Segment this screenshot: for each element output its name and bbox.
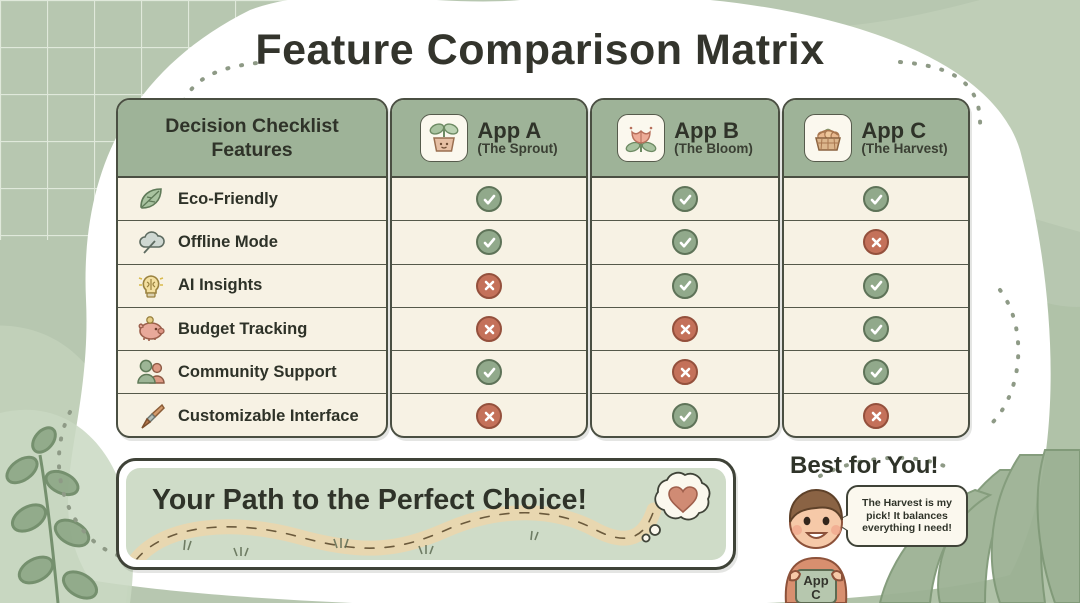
feature-label: Offline Mode <box>178 233 278 252</box>
cross-icon <box>672 316 698 342</box>
feature-row: Eco-Friendly <box>118 178 386 221</box>
feature-row: Budget Tracking <box>118 308 386 351</box>
check-icon <box>476 359 502 385</box>
check-icon <box>672 273 698 299</box>
happy-boy-with-tablet-icon: App C <box>768 478 864 603</box>
app-b-header: App B (The Bloom) <box>592 100 778 178</box>
check-icon <box>672 229 698 255</box>
check-icon <box>476 186 502 212</box>
matrix-cell-b <box>592 394 778 437</box>
matrix-cell-a <box>392 351 586 394</box>
piggy-bank-icon <box>136 315 166 343</box>
matrix-cell-b <box>592 178 778 221</box>
people-group-icon <box>136 358 166 386</box>
cta-banner: Your Path to the Perfect Choice! <box>116 458 736 570</box>
matrix-cell-c <box>784 221 968 264</box>
cloud-offline-icon <box>136 228 166 256</box>
feature-label: Eco-Friendly <box>178 190 278 209</box>
app-b-name: App B <box>674 119 753 142</box>
app-c-subtitle: (The Harvest) <box>861 142 947 157</box>
app-a-name: App A <box>477 119 557 142</box>
cross-icon <box>863 229 889 255</box>
page-title: Feature Comparison Matrix <box>0 26 1080 75</box>
cross-icon <box>476 403 502 429</box>
tulip-flower-icon <box>617 114 665 162</box>
recommendation-quote: The Harvest is my pick! It balances ever… <box>853 497 961 535</box>
feature-label: Customizable Interface <box>178 407 359 426</box>
check-icon <box>863 273 889 299</box>
feature-label: Budget Tracking <box>178 320 307 339</box>
feature-column-header-line1: Decision Checklist <box>165 115 338 138</box>
feature-row: AI Insights <box>118 265 386 308</box>
feature-comparison-matrix: Decision Checklist Features Eco-Friendly… <box>116 98 970 438</box>
feature-row: Community Support <box>118 351 386 394</box>
matrix-cell-c <box>784 265 968 308</box>
app-c-name: App C <box>861 119 947 142</box>
feature-column-header-line2: Features <box>211 139 292 162</box>
recommendation-heading: Best for You! <box>790 452 938 480</box>
matrix-column-app-c: App C (The Harvest) <box>782 98 970 438</box>
matrix-feature-column: Decision Checklist Features Eco-Friendly… <box>116 98 388 438</box>
matrix-cell-a <box>392 265 586 308</box>
matrix-cell-b <box>592 308 778 351</box>
matrix-cell-a <box>392 221 586 264</box>
matrix-cell-a <box>392 394 586 437</box>
app-b-subtitle: (The Bloom) <box>674 142 753 157</box>
cross-icon <box>476 316 502 342</box>
feature-label: Community Support <box>178 363 337 382</box>
cross-icon <box>476 273 502 299</box>
feature-row: Offline Mode <box>118 221 386 264</box>
matrix-cell-b <box>592 351 778 394</box>
check-icon <box>476 229 502 255</box>
recommendation-speech-bubble: The Harvest is my pick! It balances ever… <box>846 485 968 547</box>
feature-column-header: Decision Checklist Features <box>118 100 386 178</box>
check-icon <box>863 359 889 385</box>
potted-sprout-icon <box>420 114 468 162</box>
cross-icon <box>863 403 889 429</box>
cross-icon <box>672 359 698 385</box>
app-c-header: App C (The Harvest) <box>784 100 968 178</box>
check-icon <box>672 186 698 212</box>
lightbulb-brain-icon <box>136 272 166 300</box>
matrix-cell-b <box>592 265 778 308</box>
matrix-cell-c <box>784 178 968 221</box>
feature-label: AI Insights <box>178 276 262 295</box>
matrix-cell-c <box>784 351 968 394</box>
matrix-cell-b <box>592 221 778 264</box>
app-a-header: App A (The Sprout) <box>392 100 586 178</box>
matrix-cell-a <box>392 308 586 351</box>
check-icon <box>672 403 698 429</box>
banner-headline: Your Path to the Perfect Choice! <box>152 484 587 517</box>
matrix-column-app-a: App A (The Sprout) <box>390 98 588 438</box>
matrix-cell-c <box>784 394 968 437</box>
app-a-subtitle: (The Sprout) <box>477 142 557 157</box>
matrix-cell-c <box>784 308 968 351</box>
leaf-icon <box>136 185 166 213</box>
paintbrush-icon <box>136 402 166 430</box>
tablet-label-app: App <box>803 573 828 588</box>
feature-row: Customizable Interface <box>118 394 386 437</box>
fruit-basket-icon <box>804 114 852 162</box>
check-icon <box>863 316 889 342</box>
heart-thought-bubble-icon <box>630 468 720 546</box>
matrix-cell-a <box>392 178 586 221</box>
matrix-column-app-b: App B (The Bloom) <box>590 98 780 438</box>
check-icon <box>863 186 889 212</box>
tablet-label-c: C <box>811 587 821 602</box>
